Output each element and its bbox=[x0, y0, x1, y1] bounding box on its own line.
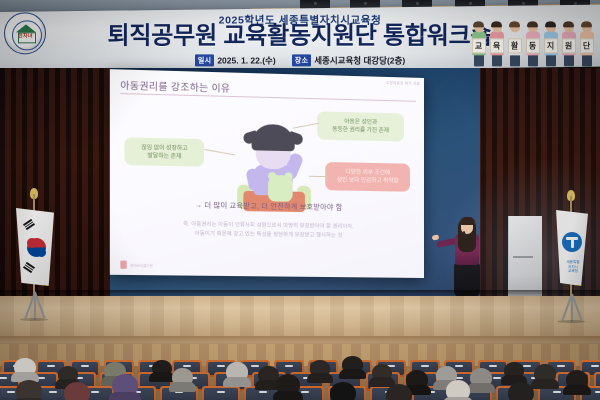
mascot-card-1: 교 bbox=[472, 38, 486, 53]
connector-line-left bbox=[204, 149, 235, 155]
presenter-hair-top bbox=[460, 217, 475, 225]
slide-title: 아동권리를 강조하는 이유 bbox=[120, 78, 416, 100]
audience-member bbox=[172, 368, 193, 386]
korean-national-flag bbox=[10, 188, 58, 328]
audience-member bbox=[566, 370, 588, 389]
audience-member bbox=[14, 358, 36, 376]
mascot-card-3: 활 bbox=[508, 38, 522, 53]
mascot-4: 동 bbox=[524, 22, 541, 68]
audience-member bbox=[342, 356, 363, 373]
save-the-children-icon bbox=[120, 261, 126, 269]
audience-member bbox=[58, 366, 78, 383]
sejong-education-emblem-icon bbox=[562, 232, 582, 252]
slide-conclusion: → 더 많이 교육받고, 더 안전하게 보호받아야 함 bbox=[110, 199, 424, 214]
mascot-1: 교 bbox=[470, 22, 487, 68]
mascot-2: 육 bbox=[488, 22, 505, 68]
mascot-card-2: 육 bbox=[490, 38, 504, 53]
banner-place: 장소 세종시교육청 대강당(2층) bbox=[292, 54, 405, 66]
banner-mascot-group: 교육활동지원단 bbox=[470, 16, 598, 68]
place-value: 세종시교육청 대강당(2층) bbox=[314, 54, 405, 66]
slide-title-row: 아동권리를 강조하는 이유 bbox=[120, 78, 416, 102]
mascot-5: 지 bbox=[542, 22, 559, 68]
slide-bubble-vulnerable: 다양한 외부 조건에 성인 보다 민감하고 취약함 bbox=[325, 162, 410, 192]
audience-member bbox=[112, 374, 138, 396]
audience-member bbox=[276, 374, 300, 395]
audience-member bbox=[330, 382, 356, 400]
trigram-gon-icon bbox=[23, 262, 35, 273]
banner-date: 일시 2025. 1. 22.(수) bbox=[195, 54, 276, 66]
mascot-6: 원 bbox=[560, 22, 577, 68]
mascot-card-4: 동 bbox=[526, 38, 540, 53]
audience-member bbox=[508, 382, 534, 400]
mascot-card-6: 원 bbox=[562, 38, 576, 53]
date-tag: 일시 bbox=[195, 54, 214, 66]
mascot-card-5: 지 bbox=[544, 38, 558, 53]
child-illustration-icon bbox=[233, 121, 315, 212]
sejong-education-office-flag: 세종특별 자치시 교육청 bbox=[548, 190, 594, 330]
event-banner: 한자녀 2025학년도 세종특별자치시교육청 퇴직공무원 교육활동지원단 통합워… bbox=[0, 5, 600, 74]
mascot-7: 단 bbox=[578, 22, 595, 68]
audience-member bbox=[372, 364, 392, 381]
mascot-card-7: 단 bbox=[580, 38, 594, 53]
bubble-growth-line2: 발달하는 존재 bbox=[147, 152, 181, 161]
audience-member bbox=[446, 380, 470, 400]
audience-member bbox=[226, 362, 248, 381]
audience-member bbox=[504, 362, 524, 379]
bubble-vuln-line2: 성인 보다 민감하고 취약함 bbox=[337, 176, 399, 185]
audience-member bbox=[534, 364, 556, 383]
date-value: 2025. 1. 22.(수) bbox=[217, 54, 275, 66]
projection-screen: 교정차료로 하기 자료 아동권리를 강조하는 이유 끊임 없이 성장하고 발달하… bbox=[110, 69, 424, 278]
teddy-bear-icon bbox=[268, 175, 293, 202]
taeguk-symbol-icon bbox=[27, 238, 46, 257]
taegukgi-cloth bbox=[16, 208, 54, 286]
audience-member bbox=[64, 382, 90, 400]
slide-footer-logo-text: 세이브더칠드런 bbox=[130, 262, 153, 267]
bubble-equal-line2: 동등한 권리를 가진 존재 bbox=[332, 126, 389, 135]
auditorium-scene: 한자녀 2025학년도 세종특별자치시교육청 퇴직공무원 교육활동지원단 통합워… bbox=[0, 0, 600, 400]
audience-area bbox=[0, 344, 600, 400]
org-flag-cloth: 세종특별 자치시 교육청 bbox=[554, 210, 588, 286]
audience-member bbox=[310, 360, 330, 377]
place-tag: 장소 bbox=[292, 54, 311, 66]
slide-note: 즉, 아동권리는 아동이 인류사회 성원으로서 마땅히 보장받아야 할 권리이자… bbox=[110, 219, 424, 242]
mascot-3: 활 bbox=[506, 22, 523, 68]
slide-bubble-growth: 끊임 없이 성장하고 발달하는 존재 bbox=[125, 137, 204, 166]
trigram-geon-icon bbox=[23, 219, 35, 230]
audience-member bbox=[406, 370, 428, 389]
slide-footer-logo: 세이브더칠드런 bbox=[120, 261, 152, 270]
audience-member bbox=[152, 360, 172, 376]
presentation-slide: 교정차료로 하기 자료 아동권리를 강조하는 이유 끊임 없이 성장하고 발달하… bbox=[110, 69, 424, 278]
slide-bubble-equal-rights: 아동은 성인과 동등한 권리를 가진 존재 bbox=[317, 111, 404, 141]
audience-member bbox=[470, 368, 492, 387]
audience-member bbox=[386, 384, 412, 400]
audience-member bbox=[16, 380, 42, 400]
auditorium-seat bbox=[202, 386, 240, 400]
org-flag-text: 세종특별 자치시 교육청 bbox=[563, 260, 583, 274]
